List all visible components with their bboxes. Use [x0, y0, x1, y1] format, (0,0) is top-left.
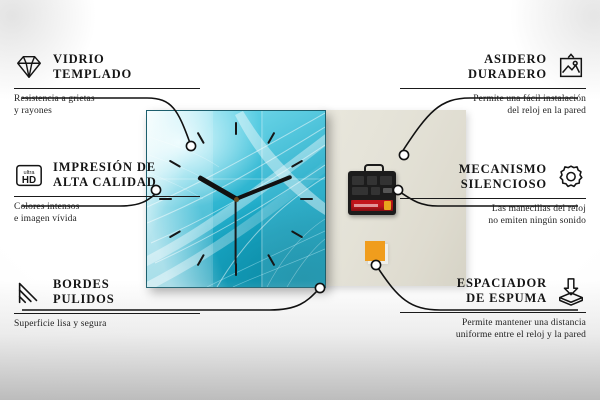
feature-desc-line2: uniforme entre el reloj y la pared: [400, 329, 586, 342]
feature-title-line2: SILENCIOSO: [459, 177, 547, 192]
feature-title-line2: DE ESPUMA: [457, 291, 547, 306]
feature-desc-line2: del reloj en la pared: [400, 105, 586, 118]
feature-asidero-duradero: ASIDERO DURADERO Permite una fácil insta…: [400, 52, 586, 118]
feature-desc-line1: Permite mantener una distancia: [400, 317, 586, 330]
feature-desc-line1: Colores intensos: [14, 201, 200, 214]
feature-bordes-pulidos: BORDES PULIDOS Superficie lisa y segura: [14, 277, 200, 330]
polished-edges-icon: [14, 277, 44, 307]
feature-mecanismo-silencioso: MECANISMO SILENCIOSO Las manecillas del …: [400, 162, 586, 228]
feature-divider: [400, 198, 586, 199]
feature-desc-line1: Las manecillas del reloj: [400, 203, 586, 216]
feature-desc-line2: e imagen vívida: [14, 213, 200, 226]
clock-center-pin: [234, 197, 239, 202]
feature-title-line2: TEMPLADO: [53, 67, 132, 82]
feature-divider: [14, 88, 200, 89]
feature-title-line2: PULIDOS: [53, 292, 115, 307]
feature-desc-line1: Resistencia a grietas: [14, 93, 200, 106]
foam-spacer: [365, 241, 385, 261]
feature-divider: [400, 88, 586, 89]
feature-impresion-alta-calidad: ultra HD IMPRESIÓN DE ALTA CALIDAD Color…: [14, 160, 200, 226]
ultra-hd-large-text: HD: [22, 175, 36, 186]
feature-title-line1: IMPRESIÓN DE: [53, 160, 157, 175]
feature-desc-line2: no emiten ningún sonido: [400, 215, 586, 228]
feature-title-line1: ESPACIADOR: [457, 276, 547, 291]
wall-hanger-frame-icon: [556, 52, 586, 82]
gear-icon: [556, 162, 586, 192]
press-down-pad-icon: [556, 276, 586, 306]
diamond-icon: [14, 52, 44, 82]
feature-title-line1: VIDRIO: [53, 52, 132, 67]
battery: [351, 200, 393, 211]
feature-title-line1: BORDES: [53, 277, 115, 292]
feature-espaciador-de-espuma: ESPACIADOR DE ESPUMA Permite mantener un…: [400, 276, 586, 342]
feature-title-line2: DURADERO: [468, 67, 547, 82]
feature-title-line1: MECANISMO: [459, 162, 547, 177]
feature-divider: [400, 312, 586, 313]
ultra-hd-icon: ultra HD: [14, 160, 44, 190]
feature-divider: [14, 313, 200, 314]
feature-vidrio-templado: VIDRIO TEMPLADO Resistencia a grietas y …: [14, 52, 200, 118]
clock-mechanism: [348, 171, 396, 215]
feature-desc-line1: Superficie lisa y segura: [14, 318, 200, 331]
infographic-canvas: VIDRIO TEMPLADO Resistencia a grietas y …: [0, 0, 600, 400]
feature-divider: [14, 196, 200, 197]
feature-desc-line1: Permite una fácil instalación: [400, 93, 586, 106]
feature-title-line1: ASIDERO: [468, 52, 547, 67]
feature-title-line2: ALTA CALIDAD: [53, 175, 157, 190]
feature-desc-line2: y rayones: [14, 105, 200, 118]
mechanism-detail: [352, 176, 392, 196]
clock-second-hand: [235, 199, 237, 265]
